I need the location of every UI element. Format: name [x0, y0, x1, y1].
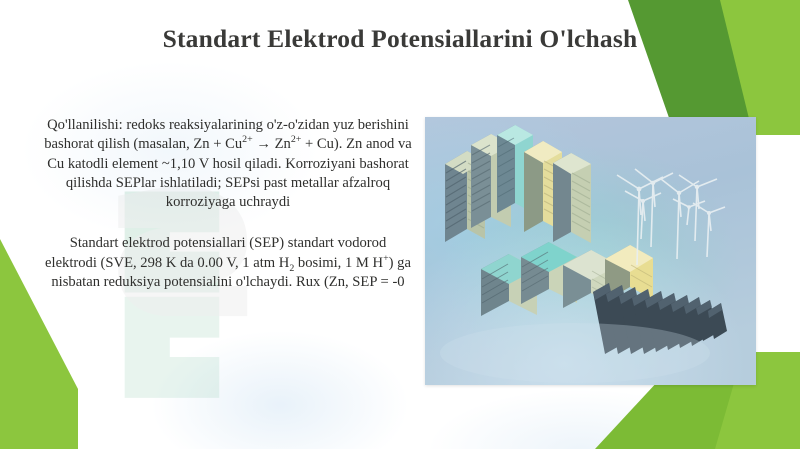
- presentation-slide: Standart Elektrod Potensiallarini O'lcha…: [0, 0, 800, 449]
- smart-city-illustration: [425, 117, 756, 385]
- body-paragraph-1: Qo'llanilishi: redoks reaksiyalarining o…: [42, 116, 414, 212]
- body-paragraph-2: Standart elektrod potensiallari (SEP) st…: [42, 234, 414, 292]
- paragraph-spacer: [42, 212, 414, 234]
- green-swoosh-top-right: [570, 0, 800, 135]
- background-tint: [150, 330, 410, 449]
- background-tint: [430, 390, 730, 449]
- slide-title: Standart Elektrod Potensiallarini O'lcha…: [0, 24, 800, 54]
- paragraph2-segment-2: bosimi, 1 M H: [294, 255, 383, 271]
- slide-image-smart-city: [425, 117, 756, 385]
- paragraph1-superscript-2: 2+: [291, 134, 302, 145]
- paragraph1-segment-2: → Zn: [253, 136, 291, 152]
- slide-body-text: Qo'llanilishi: redoks reaksiyalarining o…: [42, 116, 414, 292]
- paragraph1-superscript-1: 2+: [242, 134, 253, 145]
